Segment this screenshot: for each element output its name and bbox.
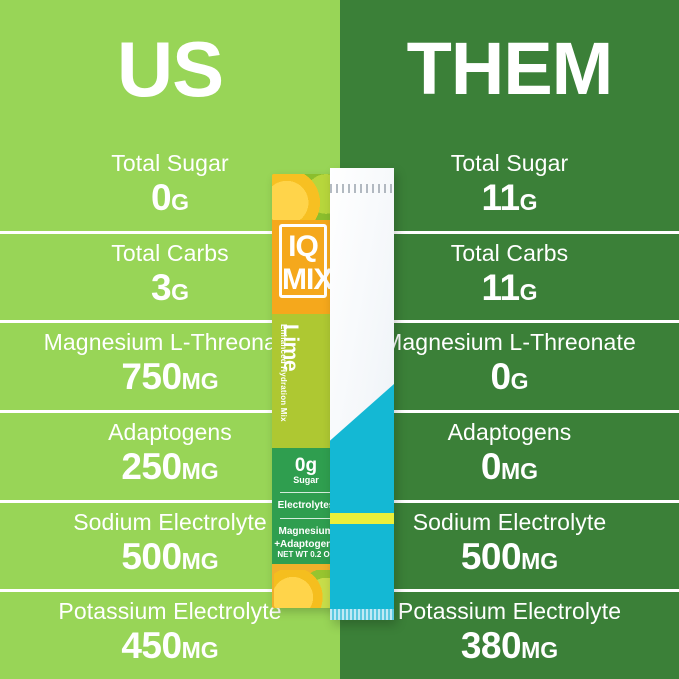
nutrient-value: 450MG (121, 626, 218, 670)
nutrient-amount: 380 (461, 625, 521, 666)
nutrient-value: 11G (481, 268, 537, 312)
nutrient-value: 380MG (461, 626, 558, 670)
nutrient-label: Sodium Electrolyte (413, 509, 607, 536)
them-column: THEM Total Sugar 11G Total Carbs 11G Mag… (340, 0, 679, 679)
nutrient-label: Adaptogens (108, 419, 232, 446)
table-row: Total Carbs 3G (0, 231, 340, 321)
nutrient-unit: MG (182, 637, 219, 663)
table-row: Total Sugar 0G (0, 141, 340, 231)
table-row: Magnesium L-Threonate 0G (340, 320, 679, 410)
nutrient-label: Adaptogens (448, 419, 572, 446)
table-row: Adaptogens 250MG (0, 410, 340, 500)
table-row: Magnesium L-Threonate 750MG (0, 320, 340, 410)
nutrient-amount: 750 (121, 356, 181, 397)
nutrient-unit: G (171, 279, 189, 305)
nutrient-value: 250MG (121, 447, 218, 491)
nutrient-unit: MG (182, 368, 219, 394)
nutrient-label: Sodium Electrolyte (73, 509, 267, 536)
nutrient-unit: G (520, 279, 538, 305)
table-row: Sodium Electrolyte 500MG (0, 500, 340, 590)
table-row: Potassium Electrolyte 450MG (0, 589, 340, 679)
comparison-infographic: US Total Sugar 0G Total Carbs 3G Magnesi… (0, 0, 679, 679)
nutrient-amount: 0 (491, 356, 511, 397)
nutrient-value: 750MG (121, 357, 218, 401)
table-row: Sodium Electrolyte 500MG (340, 500, 679, 590)
nutrient-amount: 11 (481, 267, 519, 308)
nutrient-label: Magnesium L-Threonate (44, 329, 297, 356)
table-row: Potassium Electrolyte 380MG (340, 589, 679, 679)
nutrient-value: 500MG (461, 537, 558, 581)
nutrient-label: Total Carbs (111, 240, 228, 267)
nutrient-value: 0G (491, 357, 529, 401)
nutrient-unit: MG (521, 548, 558, 574)
nutrient-amount: 0 (481, 446, 501, 487)
us-rows: Total Sugar 0G Total Carbs 3G Magnesium … (0, 141, 340, 679)
nutrient-amount: 450 (121, 625, 181, 666)
table-row: Total Sugar 11G (340, 141, 679, 231)
nutrient-amount: 11 (481, 177, 519, 218)
them-rows: Total Sugar 11G Total Carbs 11G Magnesiu… (340, 141, 679, 679)
table-row: Total Carbs 11G (340, 231, 679, 321)
us-column: US Total Sugar 0G Total Carbs 3G Magnesi… (0, 0, 340, 679)
nutrient-amount: 3 (151, 267, 171, 308)
nutrient-label: Magnesium L-Threonate (383, 329, 636, 356)
nutrient-value: 11G (481, 178, 537, 222)
nutrient-amount: 500 (121, 536, 181, 577)
nutrient-unit: MG (521, 637, 558, 663)
nutrient-label: Potassium Electrolyte (58, 598, 281, 625)
nutrient-unit: MG (182, 548, 219, 574)
nutrient-unit: MG (182, 458, 219, 484)
nutrient-value: 3G (151, 268, 189, 312)
them-column-title: THEM (340, 27, 679, 111)
nutrient-label: Potassium Electrolyte (398, 598, 621, 625)
nutrient-label: Total Sugar (111, 150, 228, 177)
nutrient-unit: G (520, 189, 538, 215)
nutrient-amount: 250 (121, 446, 181, 487)
nutrient-label: Total Carbs (451, 240, 568, 267)
nutrient-value: 0G (151, 178, 189, 222)
table-row: Adaptogens 0MG (340, 410, 679, 500)
nutrient-value: 0MG (481, 447, 538, 491)
nutrient-unit: MG (501, 458, 538, 484)
nutrient-label: Total Sugar (451, 150, 568, 177)
nutrient-unit: G (511, 368, 529, 394)
nutrient-amount: 500 (461, 536, 521, 577)
us-column-title: US (0, 27, 340, 111)
nutrient-amount: 0 (151, 177, 171, 218)
nutrient-value: 500MG (121, 537, 218, 581)
nutrient-unit: G (171, 189, 189, 215)
